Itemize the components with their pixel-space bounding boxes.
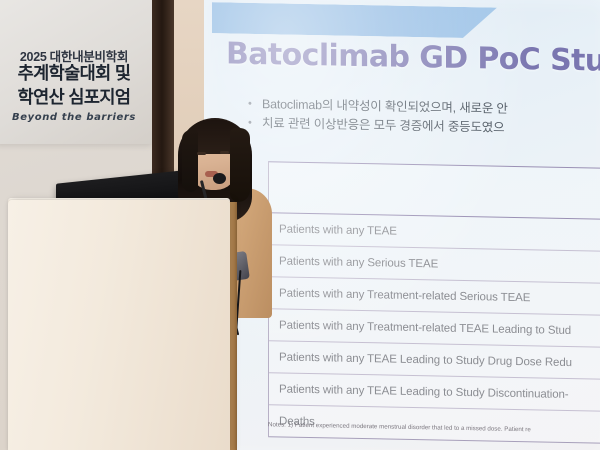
podium-front-panel: Beyond the barriers bbox=[8, 200, 230, 450]
speaker-eye-right bbox=[220, 151, 229, 154]
speaker-hair-right bbox=[230, 128, 250, 202]
conference-photo-scene: 2025 대한내분비학회 추계학술대회 및 학연산 심포지엄 Beyond th… bbox=[0, 0, 600, 450]
speaker-eye-left bbox=[197, 152, 206, 155]
speaker-hair-left bbox=[182, 130, 198, 192]
microphone-icon bbox=[213, 173, 226, 184]
